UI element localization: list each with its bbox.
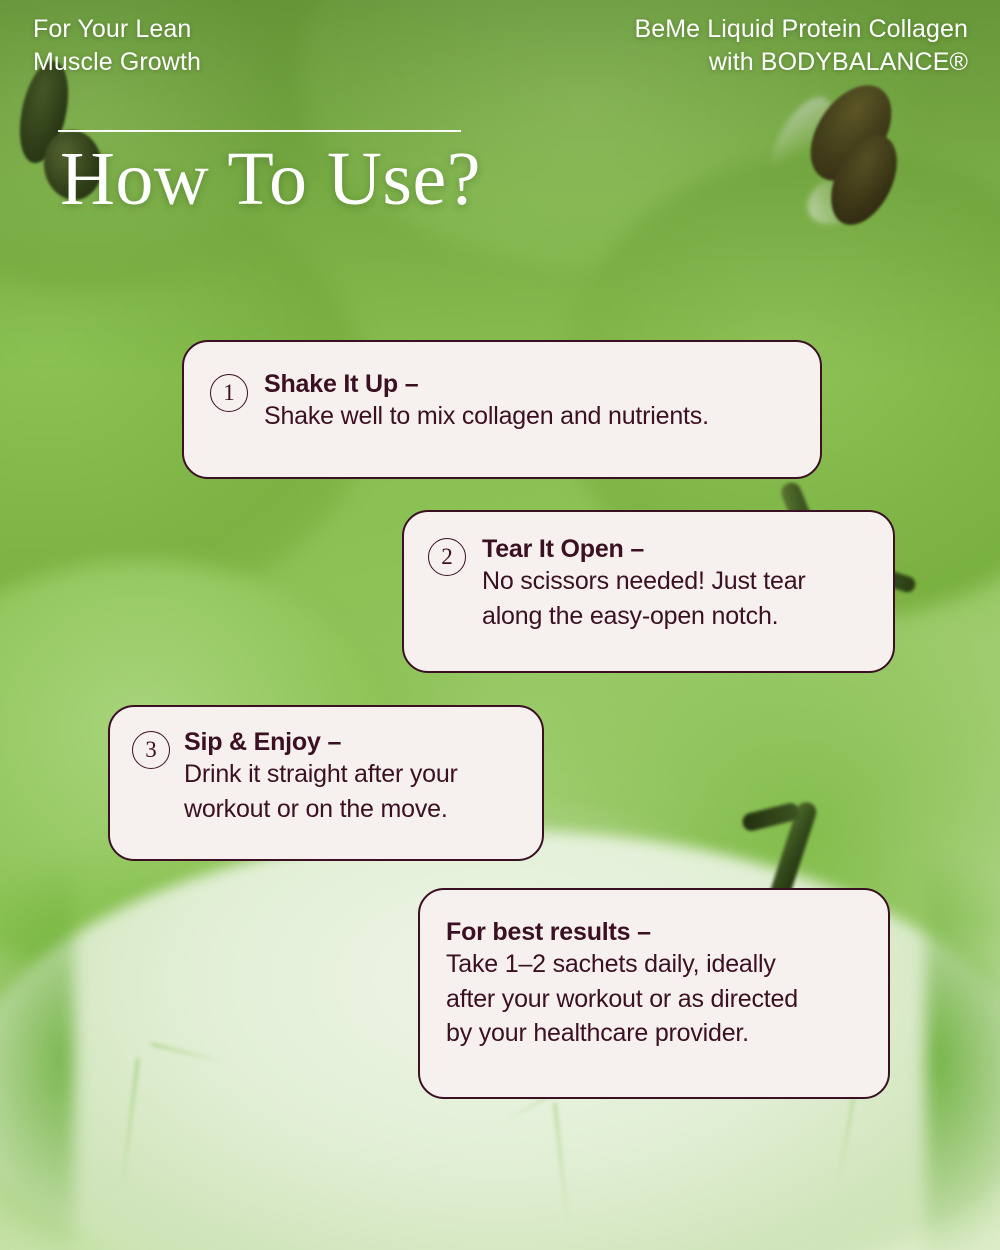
step-description: Drink it straight after your workout or … [184, 757, 458, 826]
step-content: Sip & Enjoy – Drink it straight after yo… [184, 728, 458, 826]
step-title: Tear It Open – [482, 535, 806, 564]
best-results-card: For best results – Take 1–2 sachets dail… [418, 888, 890, 1099]
step-title: Sip & Enjoy – [184, 728, 458, 757]
note-description: Take 1–2 sachets daily, ideally after yo… [446, 947, 798, 1051]
step-description: No scissors needed! Just tear along the … [482, 564, 806, 633]
step-card-1: 1 Shake It Up – Shake well to mix collag… [182, 340, 822, 479]
product-name: BeMe Liquid Protein Collagen with BODYBA… [634, 13, 968, 79]
how-to-use-poster: For Your Lean Muscle Growth BeMe Liquid … [0, 0, 1000, 1250]
tagline: For Your Lean Muscle Growth [33, 13, 201, 79]
note-title: For best results – [446, 918, 798, 947]
step-number-badge: 1 [210, 374, 248, 412]
step-card-2: 2 Tear It Open – No scissors needed! Jus… [402, 510, 895, 673]
step-content: Shake It Up – Shake well to mix collagen… [264, 370, 709, 434]
title-divider [58, 130, 461, 132]
step-description: Shake well to mix collagen and nutrients… [264, 399, 709, 434]
step-card-3: 3 Sip & Enjoy – Drink it straight after … [108, 705, 544, 861]
step-number-badge: 2 [428, 538, 466, 576]
note-content: For best results – Take 1–2 sachets dail… [446, 918, 798, 1051]
page-title: How To Use? [60, 141, 481, 217]
step-title: Shake It Up – [264, 370, 709, 399]
step-number-badge: 3 [132, 731, 170, 769]
step-content: Tear It Open – No scissors needed! Just … [482, 535, 806, 633]
